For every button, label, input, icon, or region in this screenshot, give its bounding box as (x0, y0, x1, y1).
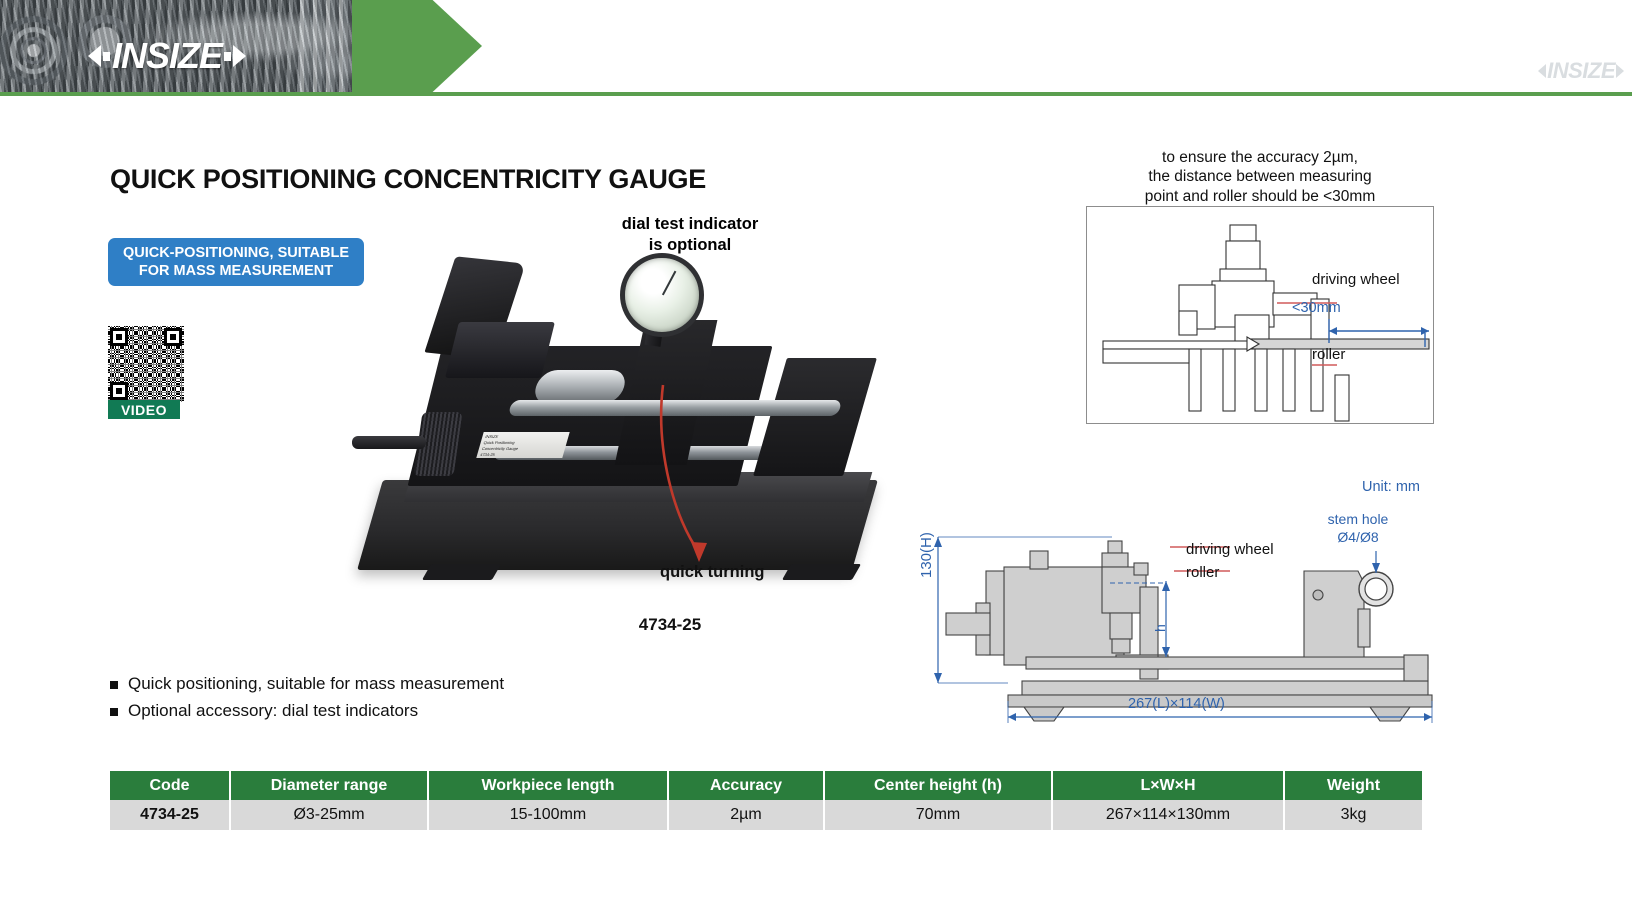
bullet-text: Quick positioning, suitable for mass mea… (128, 674, 504, 694)
label-roller-top: roller (1312, 346, 1345, 363)
qr-code[interactable] (108, 326, 184, 402)
page-header: INSIZE INSIZE (0, 0, 1632, 96)
accuracy-note-line1: to ensure the accuracy 2µm, (1086, 148, 1434, 167)
product-drive-shaft (352, 436, 426, 449)
accuracy-note-line2: the distance between measuring (1086, 167, 1434, 186)
cell-center-height: 70mm (824, 800, 1052, 830)
header-green-chevron (352, 0, 482, 92)
list-item: Optional accessory: dial test indicators (110, 701, 504, 721)
product-clamp-block (445, 322, 555, 378)
header-green-rule (0, 92, 1632, 96)
cell-accuracy: 2µm (668, 800, 824, 830)
cell-weight: 3kg (1284, 800, 1422, 830)
table-header-row: Code Diameter range Workpiece length Acc… (110, 771, 1422, 800)
qr-finder-bottom-left (110, 382, 128, 400)
list-item: Quick positioning, suitable for mass mea… (110, 674, 504, 694)
feature-badge: QUICK-POSITIONING, SUITABLE FOR MASS MEA… (108, 238, 364, 286)
insize-watermark-logo: INSIZE (1538, 58, 1624, 84)
watermark-text: INSIZE (1547, 58, 1615, 84)
logo-left-bar (103, 52, 110, 61)
insize-logo-text: INSIZE (112, 35, 222, 77)
dial-test-indicator (620, 253, 704, 337)
dial-indicator-note-line1: dial test indicator (600, 214, 780, 235)
column-header-weight: Weight (1284, 771, 1422, 800)
specification-table: Code Diameter range Workpiece length Acc… (110, 771, 1422, 830)
product-spec-label-line4: 4734-25 (479, 452, 561, 458)
cell-code: 4734-25 (110, 800, 230, 830)
table-row: 4734-25 Ø3-25mm 15-100mm 2µm 70mm 267×11… (110, 800, 1422, 830)
qr-finder-top-right (164, 328, 182, 346)
logo-right-bar (224, 52, 231, 61)
watermark-left-arrow-icon (1538, 64, 1546, 78)
page-title: QUICK POSITIONING CONCENTRICITY GAUGE (110, 164, 706, 195)
product-foot-left (422, 564, 501, 580)
label-roller-bottom: roller (1186, 564, 1219, 581)
bullet-square-icon (110, 708, 118, 716)
cell-diameter-range: Ø3-25mm (230, 800, 428, 830)
insize-logo: INSIZE (88, 35, 246, 77)
dimension-height-label: 130(H) (918, 532, 935, 578)
bullet-square-icon (110, 681, 118, 689)
bullet-text: Optional accessory: dial test indicators (128, 701, 418, 721)
quick-turning-arrow-icon (645, 380, 775, 580)
column-header-diameter-range: Diameter range (230, 771, 428, 800)
accuracy-note: to ensure the accuracy 2µm, the distance… (1086, 148, 1434, 206)
product-photo: INSIZE Quick Positioning Concentricity G… (330, 250, 890, 610)
feature-badge-line1: QUICK-POSITIONING, SUITABLE (123, 244, 349, 262)
column-header-lwh: L×W×H (1052, 771, 1284, 800)
product-spec-label: INSIZE Quick Positioning Concentricity G… (476, 432, 569, 458)
cell-workpiece-length: 15-100mm (428, 800, 668, 830)
product-foot-right (782, 564, 861, 580)
feature-bullet-list: Quick positioning, suitable for mass mea… (110, 674, 504, 728)
dimension-length-width-label: 267(L)×114(W) (1128, 696, 1225, 712)
unit-label: Unit: mm (1362, 479, 1420, 495)
label-driving-wheel-bottom: driving wheel (1186, 541, 1274, 558)
top-schematic-drawing (1087, 207, 1432, 422)
column-header-code: Code (110, 771, 230, 800)
label-distance-30mm: <30mm (1292, 300, 1341, 316)
qr-finder-top-left (110, 328, 128, 346)
top-schematic-panel (1086, 206, 1434, 424)
column-header-workpiece-length: Workpiece length (428, 771, 668, 800)
logo-left-arrow-icon (88, 45, 101, 67)
watermark-right-arrow-icon (1616, 64, 1624, 78)
column-header-accuracy: Accuracy (668, 771, 824, 800)
column-header-center-height: Center height (h) (824, 771, 1052, 800)
dimension-center-height-label: h (1152, 624, 1168, 632)
product-model-number: 4734-25 (560, 615, 780, 635)
dimension-drawing (912, 505, 1436, 727)
feature-badge-line2: FOR MASS MEASUREMENT (139, 262, 333, 280)
video-tag[interactable]: VIDEO (108, 400, 180, 419)
logo-right-arrow-icon (233, 45, 246, 67)
cell-lwh: 267×114×130mm (1052, 800, 1284, 830)
product-spindle-cylinder (531, 370, 629, 404)
accuracy-note-line3: point and roller should be <30mm (1086, 187, 1434, 206)
label-driving-wheel-top: driving wheel (1312, 271, 1400, 288)
dimension-drawing-svg (912, 505, 1436, 727)
quick-turning-label: quick turning (660, 563, 765, 582)
